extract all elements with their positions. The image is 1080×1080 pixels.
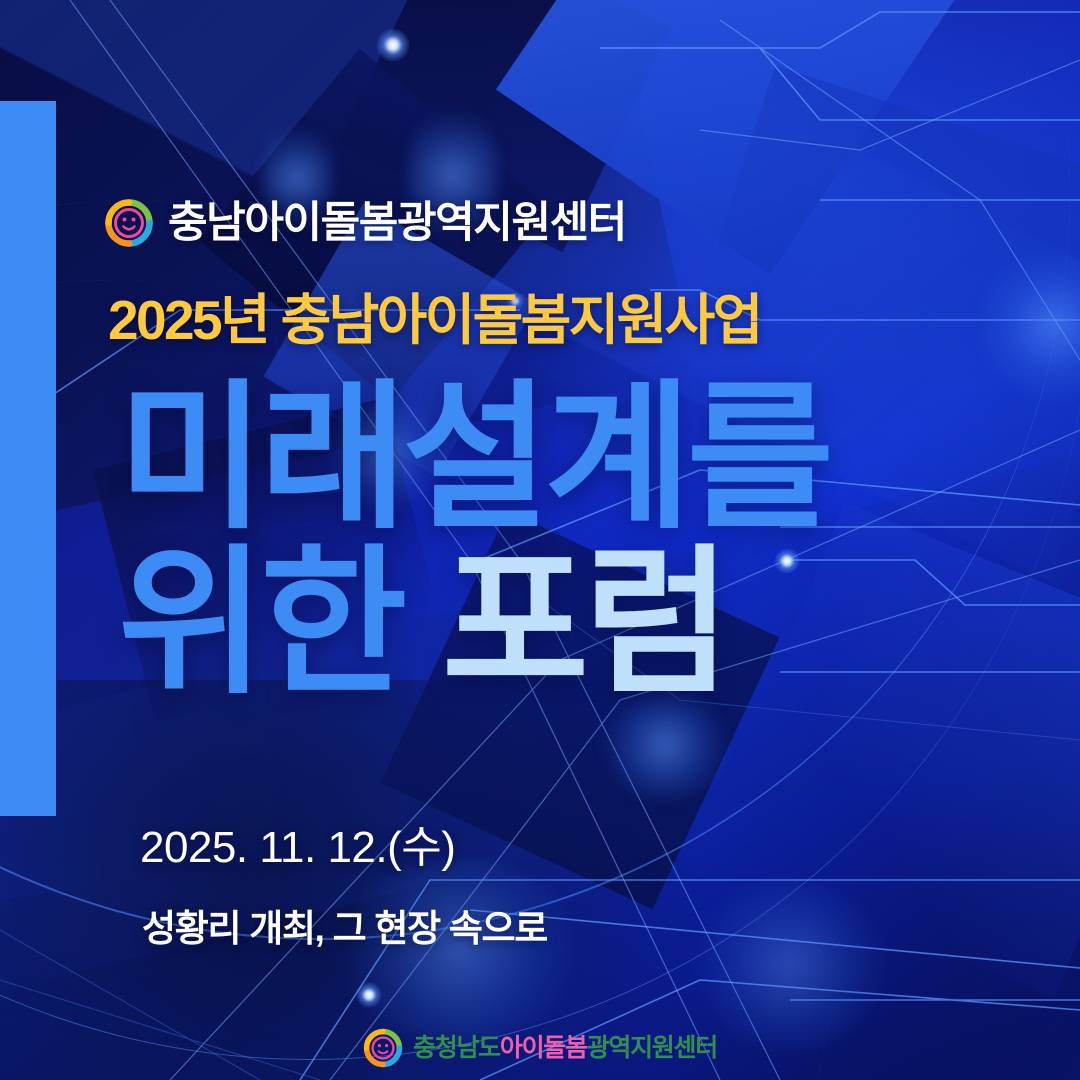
smiley-face-logo-icon	[363, 1028, 403, 1068]
footer-text-part-2: 아이돌봄	[500, 1034, 587, 1062]
footer-brand: 충청남도아이돌봄광역지원센터	[0, 1028, 1080, 1068]
footer-text-part-3: 광역지원센터	[587, 1034, 717, 1062]
program-label: 2025년 충남아이돌봄지원사업	[108, 293, 761, 348]
headline-line-2-part-2: 포럼	[442, 533, 726, 712]
poster-headline: 미래설계를 위한 포럼	[118, 380, 829, 702]
forum-promo-poster: 충남아이돌봄광역지원센터 2025년 충남아이돌봄지원사업 미래설계를 위한 포…	[0, 0, 1080, 1080]
headline-line-1: 미래설계를	[118, 380, 829, 537]
headline-line-2-part-1: 위한	[118, 533, 402, 712]
organization-name: 충남아이돌봄광역지원센터	[168, 202, 626, 245]
headline-line-2: 위한 포럼	[118, 545, 829, 702]
organization-row: 충남아이돌봄광역지원센터	[104, 198, 626, 248]
footer-text-part-1: 충청남도	[413, 1034, 500, 1062]
poster-content: 충남아이돌봄광역지원센터 2025년 충남아이돌봄지원사업 미래설계를 위한 포…	[0, 0, 1080, 1080]
event-tagline: 성황리 개최, 그 현장 속으로	[142, 910, 547, 947]
headline-space	[402, 533, 441, 712]
smiley-face-logo-icon	[104, 198, 154, 248]
footer-brand-text: 충청남도아이돌봄광역지원센터	[413, 1036, 717, 1061]
event-date: 2025. 11. 12.(수)	[140, 826, 455, 870]
